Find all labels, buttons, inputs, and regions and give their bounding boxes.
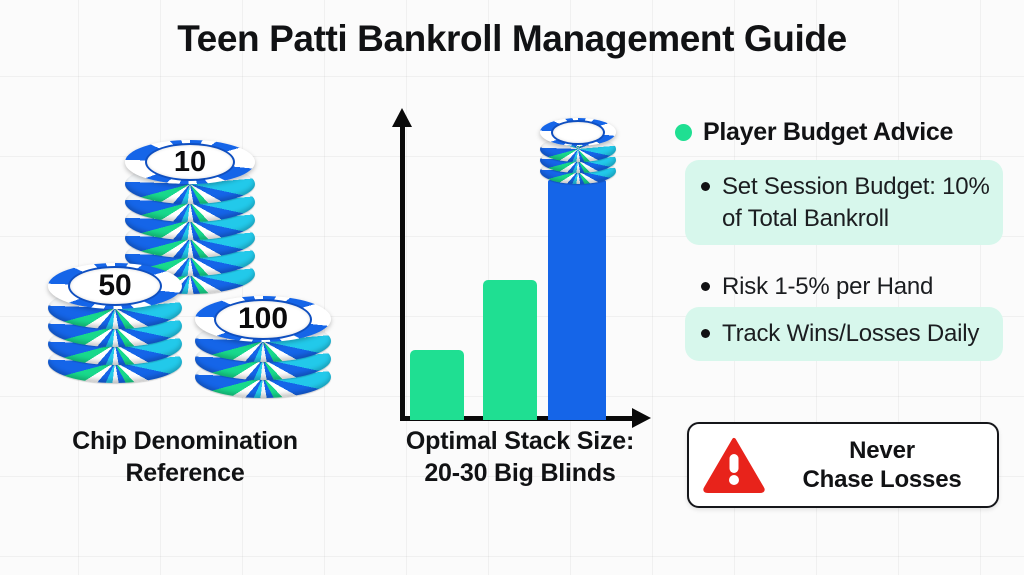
chip-stack-50: 50: [48, 245, 182, 400]
advice-item-text: Track Wins/Losses Daily: [722, 318, 979, 350]
chip-stack-marker: [540, 114, 616, 188]
advice-item-track-wins-losses[interactable]: Track Wins/Losses Daily: [685, 307, 1003, 361]
infographic-canvas: Teen Patti Bankroll Management Guide 10 …: [0, 0, 1024, 575]
chart-caption-line-2: 20-30 Big Blinds: [378, 457, 662, 489]
stack-size-bar-chart: [380, 100, 660, 430]
chip-denomination-label: 10: [145, 143, 235, 181]
bar-medium-stack: [483, 280, 537, 420]
chip-caption-line-1: Chip Denomination: [20, 425, 350, 457]
page-title: Teen Patti Bankroll Management Guide: [0, 18, 1024, 60]
chip-reference-caption: Chip Denomination Reference: [20, 425, 350, 489]
bullet-icon: [701, 282, 710, 291]
chip-top-face: 10: [125, 140, 255, 184]
advice-item-text: Set Session Budget: 10% of Total Bankrol…: [722, 171, 993, 234]
chart-caption: Optimal Stack Size: 20-30 Big Blinds: [378, 425, 662, 489]
warning-line-2: Chase Losses: [781, 465, 983, 494]
never-chase-losses-warning[interactable]: Never Chase Losses: [687, 422, 999, 508]
chart-caption-line-1: Optimal Stack Size:: [378, 425, 662, 457]
chip-caption-line-2: Reference: [20, 457, 350, 489]
bullet-icon: [701, 182, 710, 191]
chip-top-face: 100: [195, 296, 331, 342]
advice-item-risk-per-hand[interactable]: Risk 1-5% per Hand: [685, 260, 1003, 314]
bullet-icon: [701, 329, 710, 338]
advice-panel-header: Player Budget Advice: [675, 118, 953, 147]
advice-header-label: Player Budget Advice: [703, 118, 953, 147]
chip-denomination-label: 50: [68, 266, 162, 306]
bar-optimal-stack: [548, 180, 606, 420]
advice-item-session-budget[interactable]: Set Session Budget: 10% of Total Bankrol…: [685, 160, 1003, 245]
chip-denomination-label: 100: [214, 299, 312, 340]
chip-stack-100: 100: [195, 290, 331, 410]
bar-small-stack: [410, 350, 464, 420]
player-budget-advice-panel: Player Budget Advice Set Session Budget:…: [665, 110, 1010, 530]
chip-reference-panel: 10 50 100: [20, 100, 360, 420]
y-axis: [400, 125, 405, 420]
chip-top-face: [540, 118, 616, 146]
green-dot-icon: [675, 124, 692, 141]
y-axis-arrow-icon: [392, 108, 412, 127]
warning-triangle-icon: [703, 437, 765, 493]
advice-item-text: Risk 1-5% per Hand: [722, 271, 933, 303]
warning-line-1: Never: [781, 436, 983, 465]
warning-text: Never Chase Losses: [781, 436, 983, 495]
chip-blank-face: [551, 120, 605, 145]
chip-top-face: 50: [48, 263, 182, 309]
